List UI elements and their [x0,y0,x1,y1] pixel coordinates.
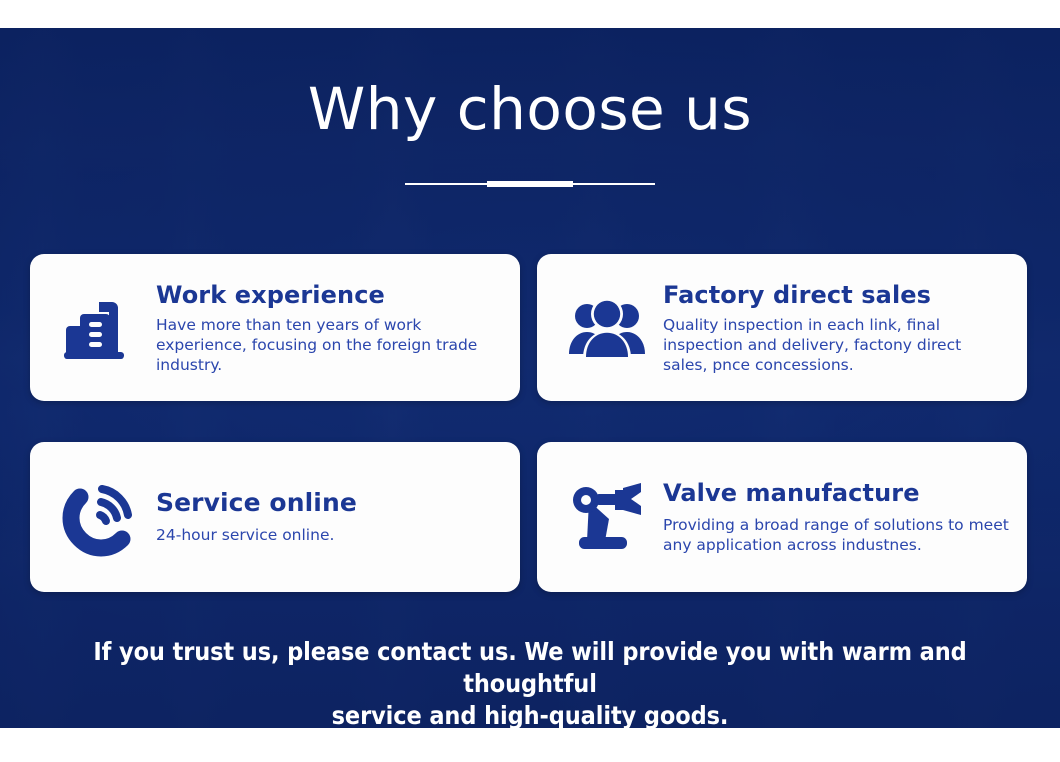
banner-header: Why choose us [0,74,1060,144]
people-group-icon [559,280,655,376]
divider-thick-rule [487,181,573,187]
feature-card-factory-direct-sales[interactable]: Factory direct sales Quality inspection … [537,254,1027,401]
why-choose-us-banner: Why choose us [0,0,1060,762]
feature-card-title: Work experience [156,281,502,309]
page-title: Why choose us [0,74,1060,144]
feature-card-valve-manufacture[interactable]: Valve manufacture Providing a broad rang… [537,442,1027,592]
feature-card-title: Service online [156,489,502,517]
footer-message-line-1: If you trust us, please contact us. We w… [50,636,1010,700]
feature-card-title: Valve manufacture [663,479,1009,507]
feature-card-body: Service online 24-hour service online. [156,489,506,545]
banner-stage: Why choose us [0,28,1060,728]
title-divider [0,180,1060,188]
feature-card-grid: Work experience Have more than ten years… [30,254,1030,589]
feature-card-body: Factory direct sales Quality inspection … [663,281,1013,375]
factory-icon [52,280,148,376]
feature-card-body: Valve manufacture Providing a broad rang… [663,479,1013,555]
phone-call-icon [52,469,148,565]
feature-card-description: Have more than ten years of work experie… [156,315,502,375]
feature-card-title: Factory direct sales [663,281,1009,309]
feature-card-service-online[interactable]: Service online 24-hour service online. [30,442,520,592]
feature-card-body: Work experience Have more than ten years… [156,281,506,375]
feature-card-description: 24-hour service online. [156,525,502,545]
robot-arm-icon [559,469,655,565]
feature-card-description: Quality inspection in each link, final i… [663,315,1009,375]
footer-message-line-2: service and high-quality goods. [50,700,1010,728]
feature-card-description: Providing a broad range of solutions to … [663,515,1009,555]
feature-card-work-experience[interactable]: Work experience Have more than ten years… [30,254,520,401]
footer-message: If you trust us, please contact us. We w… [50,636,1010,728]
